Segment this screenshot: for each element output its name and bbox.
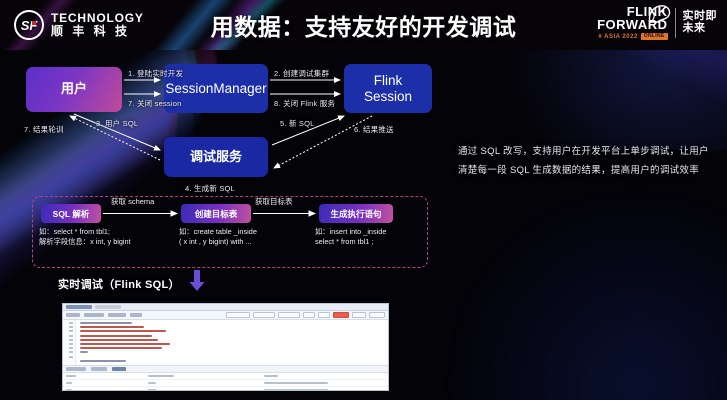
- toolbar-run-button: [333, 312, 349, 318]
- code-line: [80, 351, 88, 353]
- toolbar-button: [303, 312, 315, 318]
- toolbar-button: [352, 312, 366, 318]
- line-number: [69, 356, 73, 358]
- flink-forward-cn-line1: 实时即: [683, 11, 718, 22]
- flow-label-step7-poll: 7. 结果轮训: [24, 124, 64, 135]
- toolbar-chip: [130, 313, 142, 317]
- node-flink-session: Flink Session: [344, 64, 432, 113]
- toolbar-chip: [66, 313, 80, 317]
- sf-logo-text: TECHNOLOGY 顺 丰 科 技: [51, 12, 144, 37]
- screenshot-toolbar-left: [66, 313, 142, 317]
- flow-label-step5: 5. 新 SQL: [280, 118, 315, 129]
- line-number: [69, 351, 73, 353]
- flink-forward-wordmark: FLINK FORWARD # ASIA 2022 ONLINE: [597, 5, 667, 40]
- node-debug-service: 调试服务: [164, 137, 268, 177]
- toolbar-chip: [108, 313, 126, 317]
- flink-forward-badge: ONLINE: [641, 33, 668, 40]
- line-number: [69, 330, 73, 332]
- slide-header: 用数据：支持友好的开发调试 SF TECHNOLOGY 顺 丰 科 技 FLIN…: [0, 0, 727, 50]
- screenshot-result-table: [63, 373, 388, 391]
- flink-forward-event: # ASIA 2022: [598, 34, 637, 40]
- sf-logo-mark: SF: [14, 10, 44, 40]
- code-line: [80, 347, 162, 349]
- line-number: [69, 339, 73, 341]
- table-cell: [148, 382, 156, 384]
- line-number: [69, 343, 73, 345]
- sf-logo-chinese: 顺 丰 科 技: [51, 25, 144, 38]
- pipeline-example-sql-parse: 如：select * from tbl1; 解析字段信息：x int, y bi…: [39, 227, 171, 247]
- sf-logo-mark-text: SF: [21, 18, 38, 33]
- table-row: [63, 387, 388, 391]
- sql-rewrite-pipeline: SQL 解析 创建目标表 生成执行语句 获取 schema 获取目标表 如：se…: [32, 196, 428, 268]
- screenshot-toolbar: [63, 311, 388, 320]
- table-cell: [66, 375, 76, 377]
- toolbar-button: [253, 312, 275, 318]
- product-screenshot: [62, 303, 389, 391]
- result-tab: [66, 367, 86, 371]
- pipeline-arrow-label-target: 获取目标表: [255, 196, 293, 207]
- flow-label-step2: 2. 创建调试集群: [274, 68, 329, 79]
- line-number: [69, 326, 73, 328]
- code-line: [80, 343, 170, 345]
- table-cell: [66, 382, 72, 384]
- line-number: [69, 335, 73, 337]
- screenshot-toolbar-right: [226, 312, 385, 318]
- node-user: 用户: [26, 67, 122, 112]
- slide-root: 用数据：支持友好的开发调试 SF TECHNOLOGY 顺 丰 科 技 FLIN…: [0, 0, 727, 400]
- arrow-down-icon: [189, 270, 205, 292]
- code-line: [80, 339, 158, 341]
- squirrel-icon: [646, 3, 672, 25]
- code-line: [80, 326, 144, 328]
- code-line: [80, 322, 132, 324]
- toolbar-button: [369, 312, 385, 318]
- flow-label-step4: 4. 生成新 SQL: [185, 183, 235, 194]
- table-cell: [264, 389, 328, 391]
- screenshot-tab: [66, 305, 92, 309]
- pipeline-example-create-table: 如：create table _inside ( x int , y bigin…: [179, 227, 319, 247]
- editor-line-numbers: [63, 320, 76, 365]
- pipeline-example-gen-stmt: 如：insert into _inside select * from tbl1…: [315, 227, 429, 247]
- flink-forward-event-row: # ASIA 2022 ONLINE: [598, 33, 667, 40]
- result-tab: [91, 367, 107, 371]
- editor-code: [76, 320, 388, 365]
- toolbar-button: [318, 312, 330, 318]
- table-cell: [148, 389, 156, 391]
- code-line: [80, 335, 152, 337]
- toolbar-chip: [84, 313, 104, 317]
- screenshot-result-tabs: [63, 365, 388, 373]
- result-tab-active: [112, 367, 126, 371]
- table-cell: [66, 389, 72, 391]
- screenshot-tab: [95, 305, 121, 309]
- flow-label-step3: 3. 用户 SQL: [96, 118, 138, 129]
- flow-label-step7-close: 7. 关闭 session: [128, 98, 181, 109]
- code-line: [80, 330, 166, 332]
- toolbar-button: [278, 312, 300, 318]
- pipeline-box-gen-stmt: 生成执行语句: [319, 204, 393, 223]
- pipeline-box-sql-parse: SQL 解析: [41, 204, 101, 223]
- toolbar-button: [226, 312, 250, 318]
- flow-label-step6: 6. 结果推送: [354, 124, 394, 135]
- line-number: [69, 322, 73, 324]
- background-glow: [427, 170, 727, 400]
- flow-label-step1: 1. 登陆实时开发: [128, 68, 183, 79]
- table-cell: [264, 382, 328, 384]
- flink-forward-cn-line2: 未来: [683, 23, 718, 34]
- table-cell: [148, 375, 174, 377]
- line-number: [69, 347, 73, 349]
- code-line: [80, 360, 126, 362]
- demo-caption: 实时调试（Flink SQL）: [58, 276, 180, 292]
- flink-forward-logo: FLINK FORWARD # ASIA 2022 ONLINE 实时即 未来: [597, 5, 717, 40]
- screenshot-tabbar: [63, 304, 388, 311]
- table-row: [63, 373, 388, 380]
- table-cell: [264, 375, 278, 377]
- sf-logo-dot: [32, 21, 36, 25]
- pipeline-box-create-table: 创建目标表: [181, 204, 251, 223]
- logo-divider: [675, 8, 676, 38]
- table-row: [63, 380, 388, 387]
- pipeline-arrow-label-schema: 获取 schema: [111, 196, 154, 207]
- sf-technology-logo: SF TECHNOLOGY 顺 丰 科 技: [14, 10, 144, 40]
- screenshot-sql-editor: [63, 320, 388, 365]
- flow-label-step8: 8. 关闭 Flink 服务: [274, 98, 335, 109]
- flink-forward-chinese: 实时即 未来: [683, 11, 718, 33]
- side-note: 通过 SQL 改写，支持用户在开发平台上单步调试，让用户清楚每一段 SQL 生成…: [458, 143, 710, 180]
